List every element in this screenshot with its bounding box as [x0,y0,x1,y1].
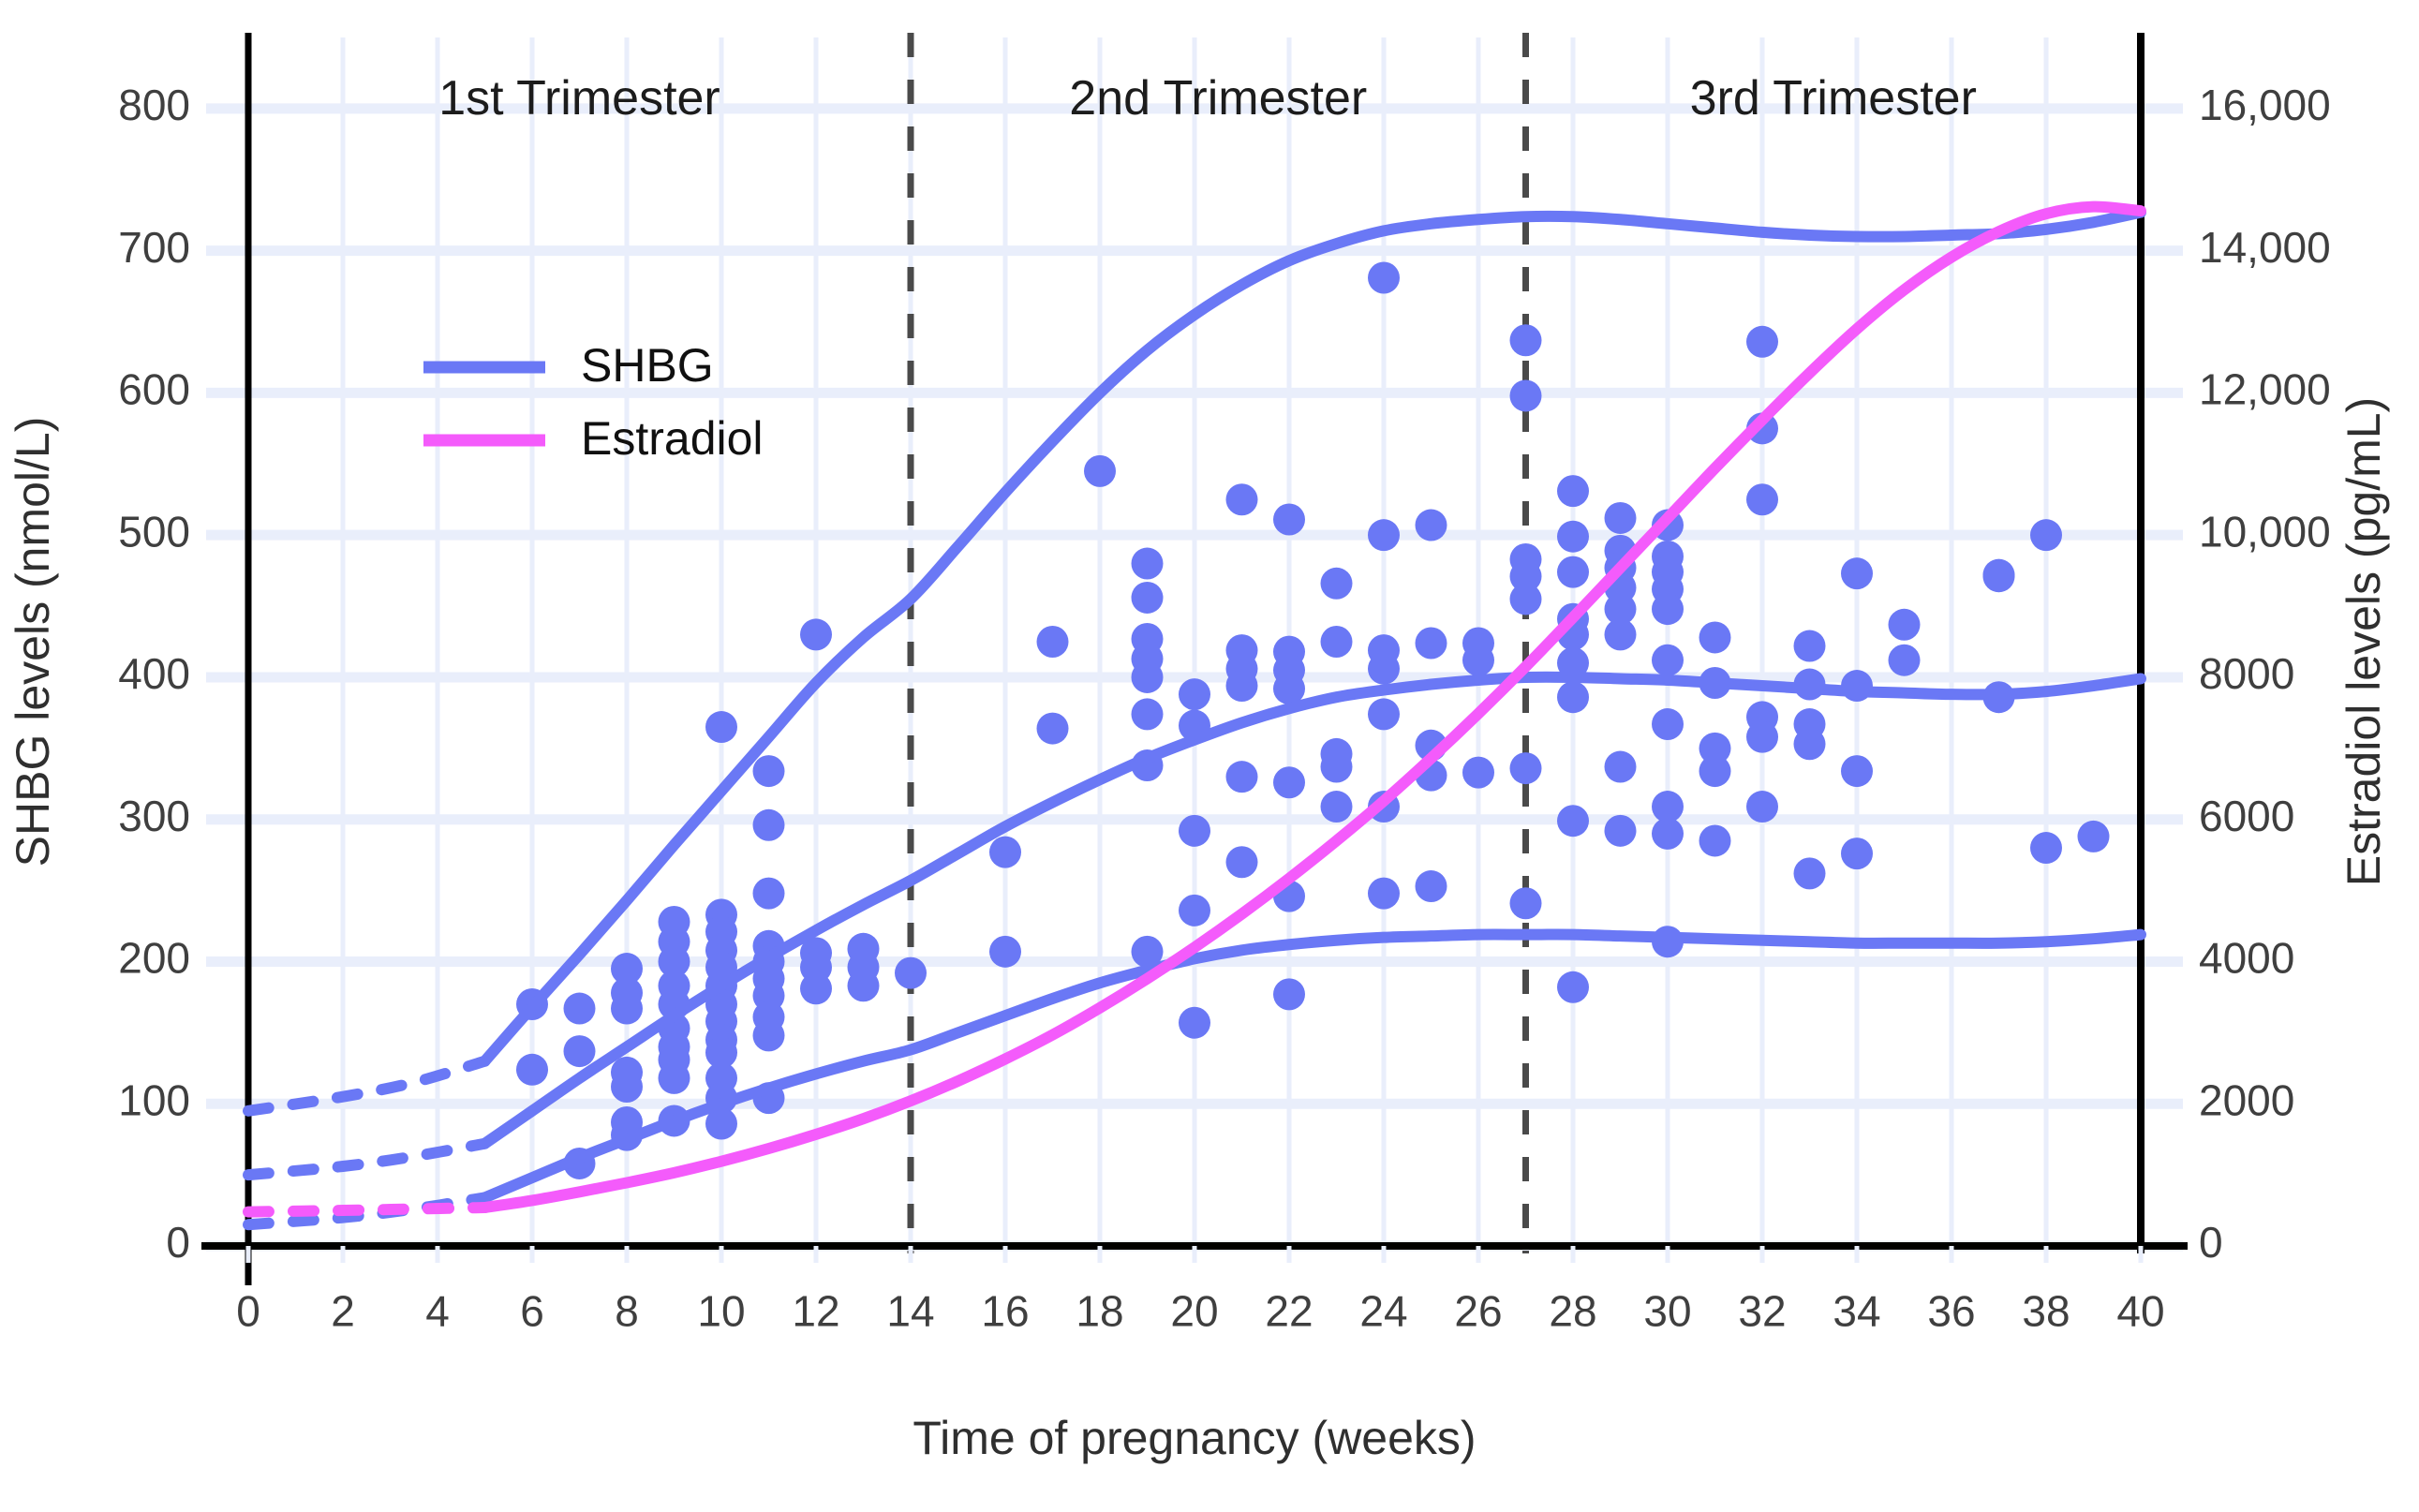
scatter-point [1368,261,1400,293]
trimester-annotation: 3rd Trimester [1690,71,1977,126]
scatter-point [1416,870,1447,902]
y2-tick-label: 12,000 [2199,365,2331,414]
y-tick-label: 800 [118,81,190,129]
scatter-point [1794,630,1826,662]
scatter-point [1226,483,1258,515]
scatter-point [2078,821,2110,852]
trimester-annotation: 1st Trimester [438,71,720,126]
scatter-point [1132,698,1164,730]
scatter-point [1746,791,1778,823]
scatter-point [1226,670,1258,702]
scatter-point [753,809,785,841]
scatter-point [1605,502,1637,534]
scatter-point [1699,755,1731,787]
x-tick-label: 0 [236,1287,260,1336]
scatter-point [1132,582,1164,614]
x-tick-label: 16 [981,1287,1029,1336]
scatter-point [1226,846,1258,878]
scatter-point [1179,678,1210,710]
scatter-point [1273,766,1305,798]
scatter-point [1368,878,1400,910]
scatter-point [1841,557,1873,589]
scatter-point [989,936,1021,968]
annotation-layer: 1st Trimester2nd Trimester3rd Trimester [438,71,1977,126]
scatter-point [611,993,643,1025]
y-tick-label: 100 [118,1075,190,1124]
x-tick-label: 20 [1170,1287,1218,1336]
x-axis-title: Time of pregnancy (weeks) [913,1412,1476,1464]
y2-tick-label: 10,000 [2199,507,2331,556]
scatter-point [1652,645,1684,676]
x-tick-label: 32 [1738,1287,1786,1336]
scatter-point [1273,503,1305,535]
y2-tick-label: 14,000 [2199,223,2331,272]
y-tick-label: 700 [118,223,190,272]
x-tick-label: 2 [331,1287,355,1336]
scatter-point [895,957,927,989]
scatter-point [753,878,785,910]
x-tick-label: 38 [2022,1287,2070,1336]
scatter-point [1368,698,1400,730]
x-tick-label: 12 [792,1287,839,1336]
shbg-estradiol-pregnancy-chart: 0100200300400500600700800020004000600080… [0,0,2419,1512]
y-tick-label: 400 [118,649,190,698]
scatter-point [659,1062,690,1094]
y-tick-label: 300 [118,792,190,840]
y2-tick-label: 16,000 [2199,81,2331,129]
scatter-point [1841,755,1873,787]
scatter-point [1557,805,1589,837]
scatter-point [564,1035,596,1067]
scatter-point [1510,379,1542,411]
scatter-point [1510,887,1542,919]
series-line-dashed-shbg-median [248,1144,485,1175]
scatter-point [1321,626,1353,658]
x-tick-label: 22 [1265,1287,1313,1336]
scatter-point [1037,626,1069,658]
y2-tick-label: 6000 [2199,792,2294,840]
scatter-point [1132,661,1164,693]
scatter-point [1889,609,1921,641]
scatter-point [1699,621,1731,653]
scatter-point [1557,681,1589,713]
scatter-point [1368,653,1400,685]
trimester-annotation: 2nd Trimester [1069,71,1367,126]
scatter-point [1510,583,1542,615]
x-tick-label: 36 [1927,1287,1975,1336]
scatter-point [753,755,785,787]
scatter-point [1557,971,1589,1003]
scatter-layer [516,261,2110,1178]
scatter-point [1605,815,1637,847]
legend-label-shbg: SHBG [581,339,714,392]
x-tick-label: 6 [520,1287,544,1336]
x-tick-label: 24 [1359,1287,1407,1336]
scatter-point [1084,455,1116,487]
y-tick-label: 0 [166,1218,190,1267]
scatter-point [1794,728,1826,760]
scatter-point [2030,832,2062,864]
x-tick-label: 40 [2116,1287,2164,1336]
scatter-point [1746,483,1778,515]
scatter-point [611,1071,643,1103]
scatter-point [516,1054,548,1086]
scatter-point [1462,645,1494,676]
scatter-point [1746,326,1778,358]
y2-tick-label: 2000 [2199,1075,2294,1124]
scatter-point [1557,521,1589,553]
y2-tick-label: 0 [2199,1218,2223,1267]
y2-tick-label: 8000 [2199,649,2294,698]
scatter-point [1652,818,1684,850]
y-tick-label: 500 [118,507,190,556]
x-tick-label: 8 [615,1287,639,1336]
scatter-point [1983,560,2015,592]
x-tick-label: 14 [886,1287,934,1336]
scatter-point [1179,895,1210,926]
scatter-point [564,993,596,1025]
scatter-point [1416,628,1447,660]
scatter-point [1273,978,1305,1010]
chart-container: 0100200300400500600700800020004000600080… [0,0,2419,1512]
scatter-point [800,972,832,1004]
scatter-point [1605,751,1637,783]
scatter-point [2030,519,2062,551]
scatter-point [1699,824,1731,856]
scatter-point [1510,324,1542,356]
grid-layer [206,37,2183,1246]
scatter-point [1416,510,1447,541]
scatter-point [1132,548,1164,580]
y-tick-label: 200 [118,934,190,983]
y2-axis-title: Estradiol levels (pg/mL) [2337,397,2390,886]
scatter-point [705,711,737,743]
x-tick-label: 4 [425,1287,450,1336]
y-tick-label: 600 [118,365,190,414]
scatter-point [1841,838,1873,869]
scatter-point [1037,713,1069,745]
scatter-point [1557,475,1589,507]
scatter-point [1652,593,1684,625]
x-tick-label: 26 [1454,1287,1502,1336]
y2-tick-label: 4000 [2199,934,2294,983]
scatter-point [1179,1007,1210,1039]
scatter-point [1462,757,1494,789]
scatter-point [1605,618,1637,650]
x-tick-label: 34 [1833,1287,1880,1336]
x-tick-label: 28 [1549,1287,1596,1336]
scatter-point [1321,568,1353,600]
scatter-point [1794,857,1826,889]
scatter-point [848,970,880,1001]
x-tick-label: 18 [1076,1287,1123,1336]
legend-label-estradiol: Estradiol [581,412,764,465]
scatter-point [800,618,832,650]
scatter-point [1368,519,1400,551]
scatter-point [1889,645,1921,676]
y-axis-title: SHBG levels (nmol/L) [7,417,59,867]
scatter-point [1652,708,1684,740]
scatter-point [1226,761,1258,793]
chart-legend: SHBGEstradiol [423,339,764,465]
scatter-point [1321,791,1353,823]
scatter-point [1179,815,1210,847]
scatter-point [1746,721,1778,753]
scatter-point [1510,752,1542,784]
x-tick-label: 10 [697,1287,745,1336]
scatter-point [989,837,1021,868]
scatter-point [753,1019,785,1051]
scatter-point [1557,556,1589,588]
series-line-dashed-estradiol [248,1208,485,1212]
scatter-point [1321,751,1353,783]
x-tick-label: 30 [1643,1287,1691,1336]
